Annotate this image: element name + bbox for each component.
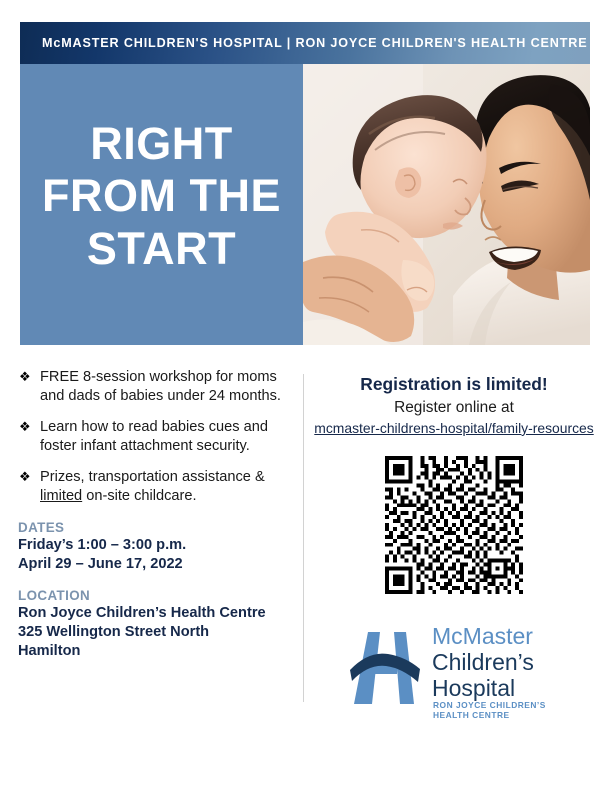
location-street: 325 Wellington Street North — [18, 623, 296, 642]
list-item-text-tail: on-site childcare. — [82, 488, 196, 504]
mcmaster-childrens-hospital-logo: McMaster Children’s Hospital RON JOYCE C… — [348, 618, 560, 720]
logo-word-mcmaster: McMaster — [432, 623, 533, 649]
page-title-line-3: START — [42, 223, 281, 275]
right-column: Registration is limited! Register online… — [310, 374, 598, 598]
dates-label: DATES — [18, 520, 296, 535]
column-divider — [303, 374, 304, 702]
father-and-baby-photo — [303, 64, 590, 345]
dates-section: DATES Friday’s 1:00 – 3:00 p.m. April 29… — [18, 520, 296, 574]
diamond-bullet-icon: ❖ — [19, 468, 31, 486]
list-item-text: Prizes, transportation assistance & — [40, 469, 265, 485]
logo-word-childrens: Children’s — [432, 649, 534, 675]
list-item-emphasis: limited — [40, 488, 82, 504]
logo-word-hospital: Hospital — [432, 675, 515, 701]
registration-subheading: Register online at — [310, 398, 598, 418]
registration-heading: Registration is limited! — [310, 374, 598, 396]
page-title: RIGHT FROM THE START — [42, 118, 281, 275]
location-section: LOCATION Ron Joyce Children’s Health Cen… — [18, 588, 296, 661]
list-item: ❖Learn how to read babies cues and foste… — [18, 418, 296, 457]
page-title-line-2: FROM THE — [42, 170, 281, 222]
hero-section: RIGHT FROM THE START — [20, 64, 590, 345]
location-label: LOCATION — [18, 588, 296, 603]
diamond-bullet-icon: ❖ — [19, 368, 31, 386]
registration-url-link[interactable]: mcmaster-childrens-hospital/family-resou… — [314, 420, 593, 436]
dates-range: April 29 – June 17, 2022 — [18, 555, 296, 574]
feature-bullet-list: ❖FREE 8-session workshop for moms and da… — [18, 368, 296, 506]
logo-subtitle-line-1: RON JOYCE CHILDREN’S — [433, 700, 546, 710]
dates-time: Friday’s 1:00 – 3:00 p.m. — [18, 536, 296, 555]
list-item-text: FREE 8-session workshop for moms and dad… — [40, 369, 281, 404]
left-column: ❖FREE 8-session workshop for moms and da… — [18, 368, 296, 661]
list-item: ❖Prizes, transportation assistance & lim… — [18, 468, 296, 507]
diamond-bullet-icon: ❖ — [19, 418, 31, 436]
location-venue: Ron Joyce Children’s Health Centre — [18, 604, 296, 623]
list-item-text: Learn how to read babies cues and foster… — [40, 419, 268, 454]
logo-h-monogram — [350, 632, 420, 704]
location-city: Hamilton — [18, 642, 296, 661]
header-banner: McMASTER CHILDREN'S HOSPITAL | RON JOYCE… — [20, 22, 590, 64]
logo-subtitle-line-2: HEALTH CENTRE — [433, 710, 510, 720]
list-item: ❖FREE 8-session workshop for moms and da… — [18, 368, 296, 407]
hero-title-block: RIGHT FROM THE START — [20, 64, 303, 345]
page-title-line-1: RIGHT — [42, 118, 281, 170]
header-title: McMASTER CHILDREN'S HOSPITAL | RON JOYCE… — [20, 36, 587, 50]
qr-code[interactable] — [381, 452, 527, 598]
